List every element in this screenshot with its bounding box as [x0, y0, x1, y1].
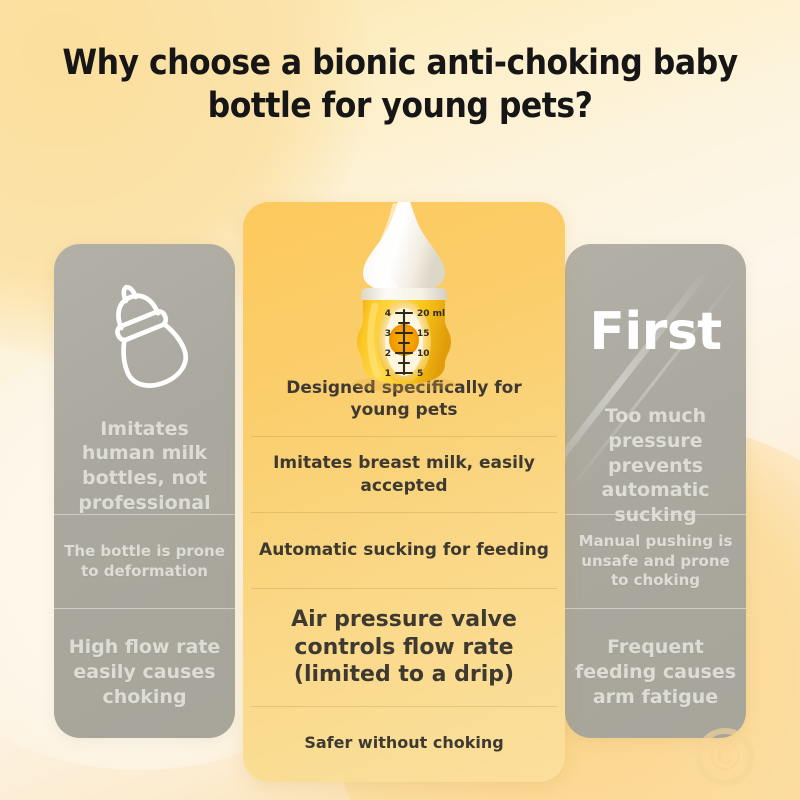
- list-item: The bottle is prone to deformation: [54, 514, 235, 608]
- list-item: High flow rate easily causes choking: [54, 608, 235, 736]
- baby-bottle-outline-icon: [91, 278, 199, 390]
- svg-text:20 ml: 20 ml: [417, 309, 445, 319]
- list-item: Air pressure valve controls flow rate (l…: [251, 588, 557, 706]
- list-item: Automatic sucking for feeding: [251, 512, 557, 588]
- list-item: Imitates human milk bottles, not profess…: [54, 418, 235, 514]
- page-title-line-1: Why choose a bionic anti-choking baby: [62, 43, 737, 83]
- list-item: Manual pushing is unsafe and prone to ch…: [565, 514, 746, 608]
- list-item: Frequent feeding causes arm fatigue: [565, 608, 746, 736]
- product-photo: 4 3 2 1 20 ml 15 10 5: [299, 202, 509, 395]
- svg-text:1: 1: [385, 369, 391, 379]
- copyright-watermark: ©: [696, 728, 754, 786]
- svg-text:5: 5: [417, 369, 423, 379]
- list-item: Too much pressure prevents automatic suc…: [565, 418, 746, 514]
- baby-bottle-product-illustration: 4 3 2 1 20 ml 15 10 5: [299, 202, 509, 395]
- right-panel-heading: First: [589, 306, 721, 358]
- right-panel-list: Too much pressure prevents automatic suc…: [565, 418, 746, 738]
- svg-text:4: 4: [385, 309, 391, 319]
- svg-text:15: 15: [417, 329, 430, 339]
- right-drawback-panel: First Too much pressure prevents automat…: [565, 244, 746, 738]
- left-drawback-panel: Imitates human milk bottles, not profess…: [54, 244, 235, 738]
- svg-text:3: 3: [385, 329, 391, 339]
- svg-text:10: 10: [417, 349, 430, 359]
- list-item: Safer without choking: [251, 706, 557, 780]
- center-panel-list: Designed specifically for young pets Imi…: [243, 362, 565, 782]
- list-item: Imitates breast milk, easily accepted: [251, 436, 557, 512]
- page-title-line-2: bottle for young pets?: [40, 85, 760, 128]
- poster-canvas: Why choose a bionic anti-choking baby bo…: [0, 0, 800, 800]
- svg-text:2: 2: [385, 349, 391, 359]
- center-benefit-panel: 4 3 2 1 20 ml 15 10 5 Designed specifica…: [243, 202, 565, 782]
- left-panel-list: Imitates human milk bottles, not profess…: [54, 418, 235, 738]
- page-title: Why choose a bionic anti-choking baby bo…: [0, 42, 800, 129]
